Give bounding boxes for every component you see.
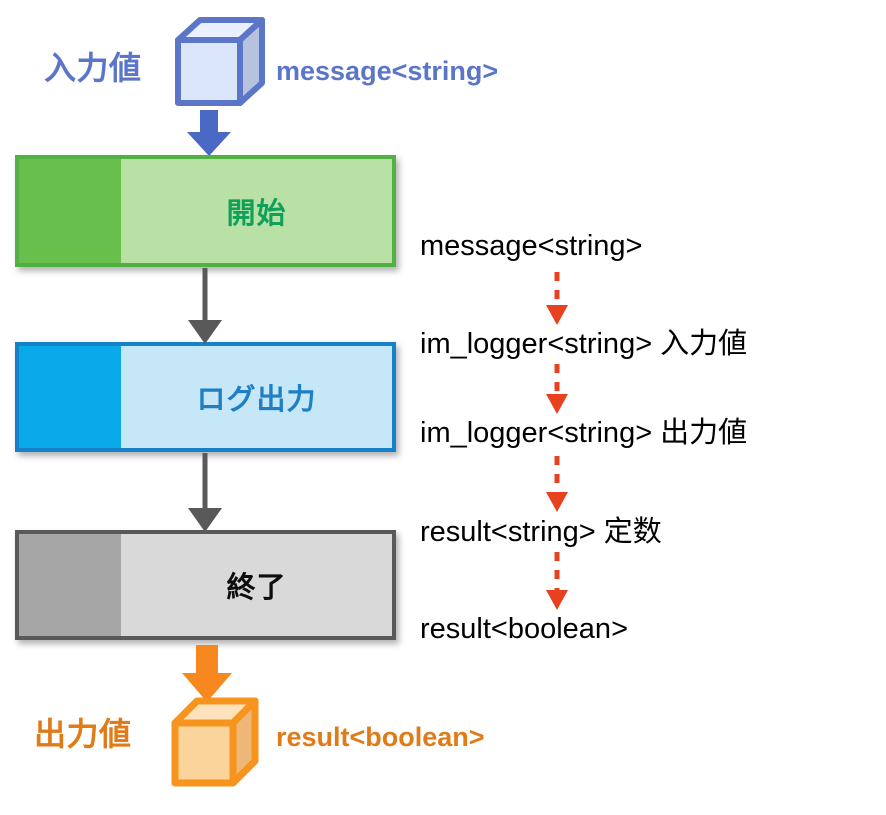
annotation-message-string: message<string>: [420, 232, 642, 261]
node-start-body: 開始: [121, 159, 392, 263]
flow-arrow-log-to-end-icon: [188, 453, 222, 532]
node-log-output-label: ログ出力: [196, 376, 316, 418]
node-log-output[interactable]: ログ出力: [15, 342, 396, 452]
dashed-arrow-2-icon: [546, 364, 568, 414]
node-end-body: 終了: [121, 534, 392, 636]
dashed-arrow-4-icon: [546, 552, 568, 610]
node-start[interactable]: 開始: [15, 155, 396, 267]
flow-diagram: 開始 ログ出力 終了: [0, 0, 886, 815]
dashed-arrow-1-icon: [546, 272, 568, 325]
node-start-strip: [19, 159, 121, 263]
output-type-label: result<boolean>: [276, 724, 485, 751]
annotation-result-boolean: result<boolean>: [420, 615, 628, 644]
input-cube-icon: [178, 20, 262, 103]
node-end-strip: [19, 534, 121, 636]
dashed-arrow-3-icon: [546, 456, 568, 512]
input-type-label: message<string>: [276, 58, 498, 85]
node-log-output-strip: [19, 346, 121, 448]
input-arrow-icon: [187, 110, 231, 156]
output-arrow-icon: [182, 645, 232, 702]
node-end-label: 終了: [226, 564, 286, 606]
annotation-im-logger-output: im_logger<string> 出力値: [420, 419, 747, 448]
flow-arrow-start-to-log-icon: [188, 268, 222, 344]
node-start-label: 開始: [226, 190, 286, 232]
node-log-output-body: ログ出力: [121, 346, 392, 448]
node-end[interactable]: 終了: [15, 530, 396, 640]
output-cube-icon: [175, 701, 255, 783]
input-value-label: 入力値: [44, 52, 142, 84]
output-value-label: 出力値: [34, 718, 132, 750]
annotation-im-logger-input: im_logger<string> 入力値: [420, 330, 747, 359]
annotation-result-string-const: result<string> 定数: [420, 518, 662, 547]
